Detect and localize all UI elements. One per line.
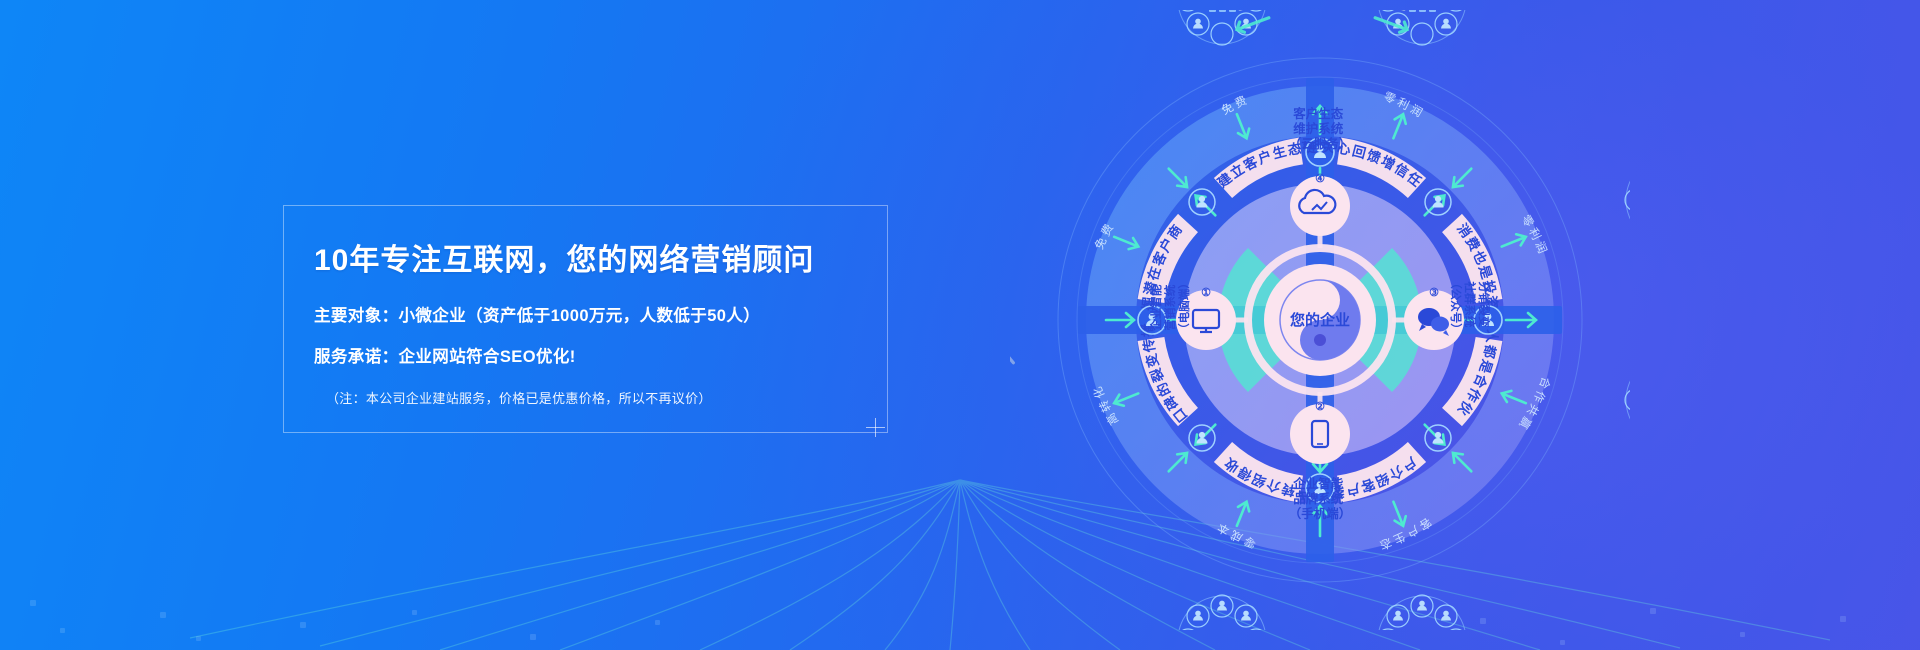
center-label: 您的企业 — [1289, 311, 1350, 329]
node-4-label: 客户生态 维护系统 （云服务） — [1289, 106, 1352, 151]
marketing-banner: 10年专注互联网，您的网络营销顾问 主要对象：小微企业（资产低于1000万元，人… — [0, 0, 1920, 650]
node-3-number: ③ — [1429, 287, 1439, 299]
node-4-number: ④ — [1315, 173, 1325, 185]
promo-note: （注：本公司企业建站服务，价格已是优惠价格，所以不再议价） — [326, 388, 887, 407]
node-2-label: 企业智能 品牌系统 （手机端） — [1289, 476, 1352, 521]
center-hub: 您的企业 — [1248, 248, 1392, 392]
background-dots — [0, 500, 1920, 650]
promo-textbox: 10年专注互联网，您的网络营销顾问 主要对象：小微企业（资产低于1000万元，人… — [283, 205, 888, 433]
node-2-number: ② — [1315, 401, 1325, 413]
promo-subline-1: 主要对象：小微企业（资产低于1000万元，人数低于50人） — [314, 306, 887, 327]
node-1-number: ① — [1201, 287, 1211, 299]
promo-headline: 10年专注互联网，您的网络营销顾问 — [314, 242, 887, 280]
promo-subline-2: 服务承诺：企业网站符合SEO优化! — [314, 347, 887, 368]
node-1-label: 企业智能 营销系统 （电脑端） — [1149, 277, 1191, 335]
plus-marker-icon — [866, 418, 885, 437]
marketing-ecosystem-diagram: 建立客户生态链 关心回馈增信任 消费也是投资 人人都是合作伙伴 客户介绍客户裂变… — [1010, 10, 1630, 630]
node-3-label: 分销裂变 社群系统 （公众号） — [1449, 277, 1491, 335]
